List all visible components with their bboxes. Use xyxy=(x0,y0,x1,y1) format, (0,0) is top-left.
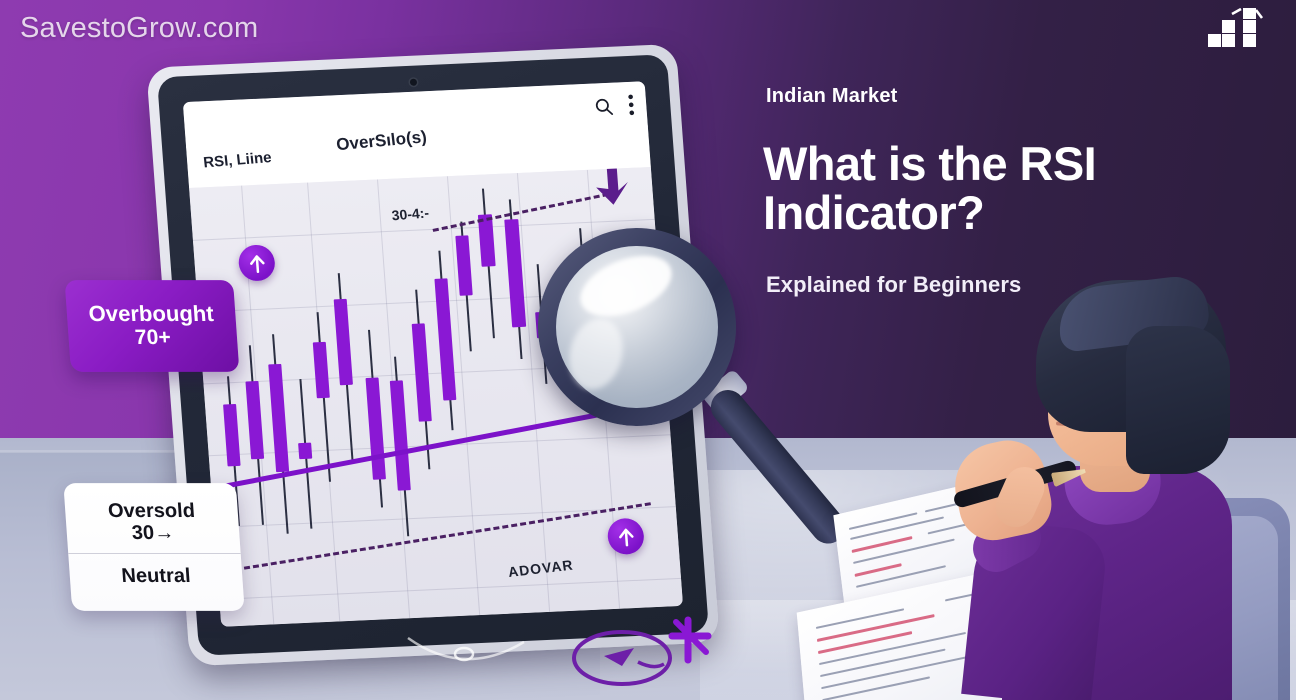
search-icon[interactable] xyxy=(592,95,615,117)
desk-ring-reflection xyxy=(400,628,530,680)
magnifying-glass xyxy=(530,222,830,522)
oversold-neutral-callout: Oversold 30→ Neutral xyxy=(63,483,244,611)
oversold-value: 30→ xyxy=(66,522,240,544)
kicker-text: Indian Market xyxy=(766,85,898,108)
oversold-label: Oversold xyxy=(65,500,239,522)
person-hair-back xyxy=(1126,326,1230,474)
more-vertical-icon[interactable] xyxy=(627,94,635,116)
arrow-down-left-icon xyxy=(586,167,633,210)
analyst-illustration xyxy=(940,270,1296,700)
overbought-callout: Overbought 70+ xyxy=(65,280,240,372)
front-camera xyxy=(410,79,418,86)
overbought-value: 70+ xyxy=(134,326,171,350)
zones-label: ZONES xyxy=(277,619,328,627)
desk-doodle xyxy=(560,612,770,692)
poster-canvas: SavestoGrow.com Indian Market What is th… xyxy=(0,0,1296,700)
arrow-up-icon-top[interactable] xyxy=(237,244,276,282)
bar-chart-logo xyxy=(1206,8,1264,50)
adovar-label: ADOVAR xyxy=(507,557,574,580)
price-label: 30-4:- xyxy=(391,204,430,223)
brand-wordmark: SavestoGrow.com xyxy=(20,12,258,45)
arrow-up-icon-bottom[interactable] xyxy=(606,518,645,556)
neutral-label: Neutral xyxy=(68,554,243,588)
overbought-label: Overbought xyxy=(88,302,215,326)
page-title: What is the RSI Indicator? xyxy=(763,140,1273,238)
